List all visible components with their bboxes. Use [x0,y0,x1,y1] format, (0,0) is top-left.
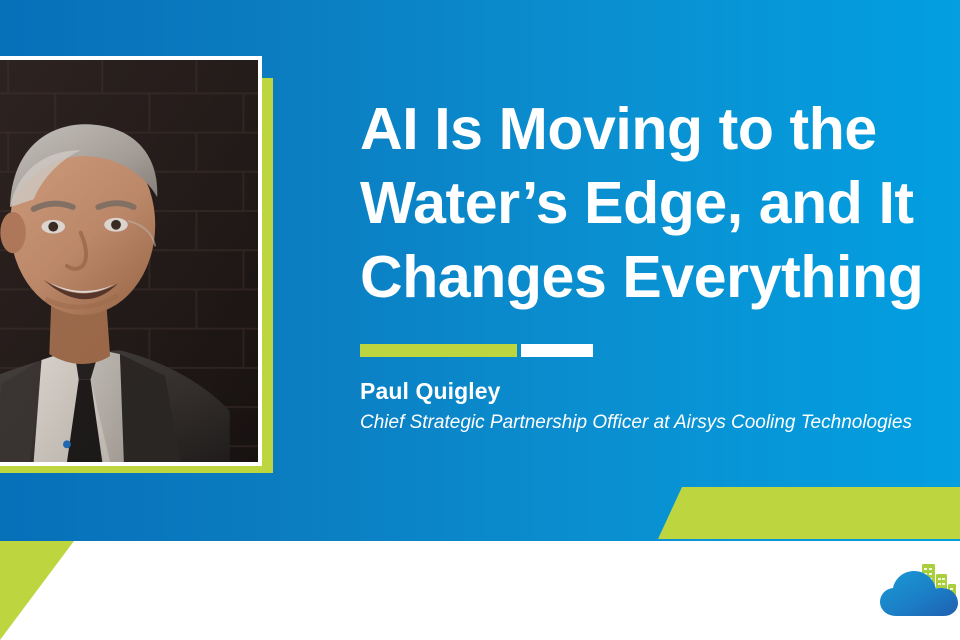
accent-rule-white [521,344,593,357]
photo-white-frame [0,56,262,466]
accent-rule [360,344,593,357]
slide-title: AI Is Moving to the Water’s Edge, and It… [360,92,960,314]
speaker-portrait [0,60,258,462]
speaker-role: Chief Strategic Partnership Officer at A… [360,412,912,434]
speaker-name: Paul Quigley [360,378,501,405]
accent-rule-green [360,344,517,357]
speaker-photo-block [0,56,273,473]
company-logo [880,552,958,624]
slide-content: AI Is Moving to the Water’s Edge, and It… [360,0,960,541]
presentation-slide: AI Is Moving to the Water’s Edge, and It… [0,0,960,640]
footer-strip [0,541,960,640]
